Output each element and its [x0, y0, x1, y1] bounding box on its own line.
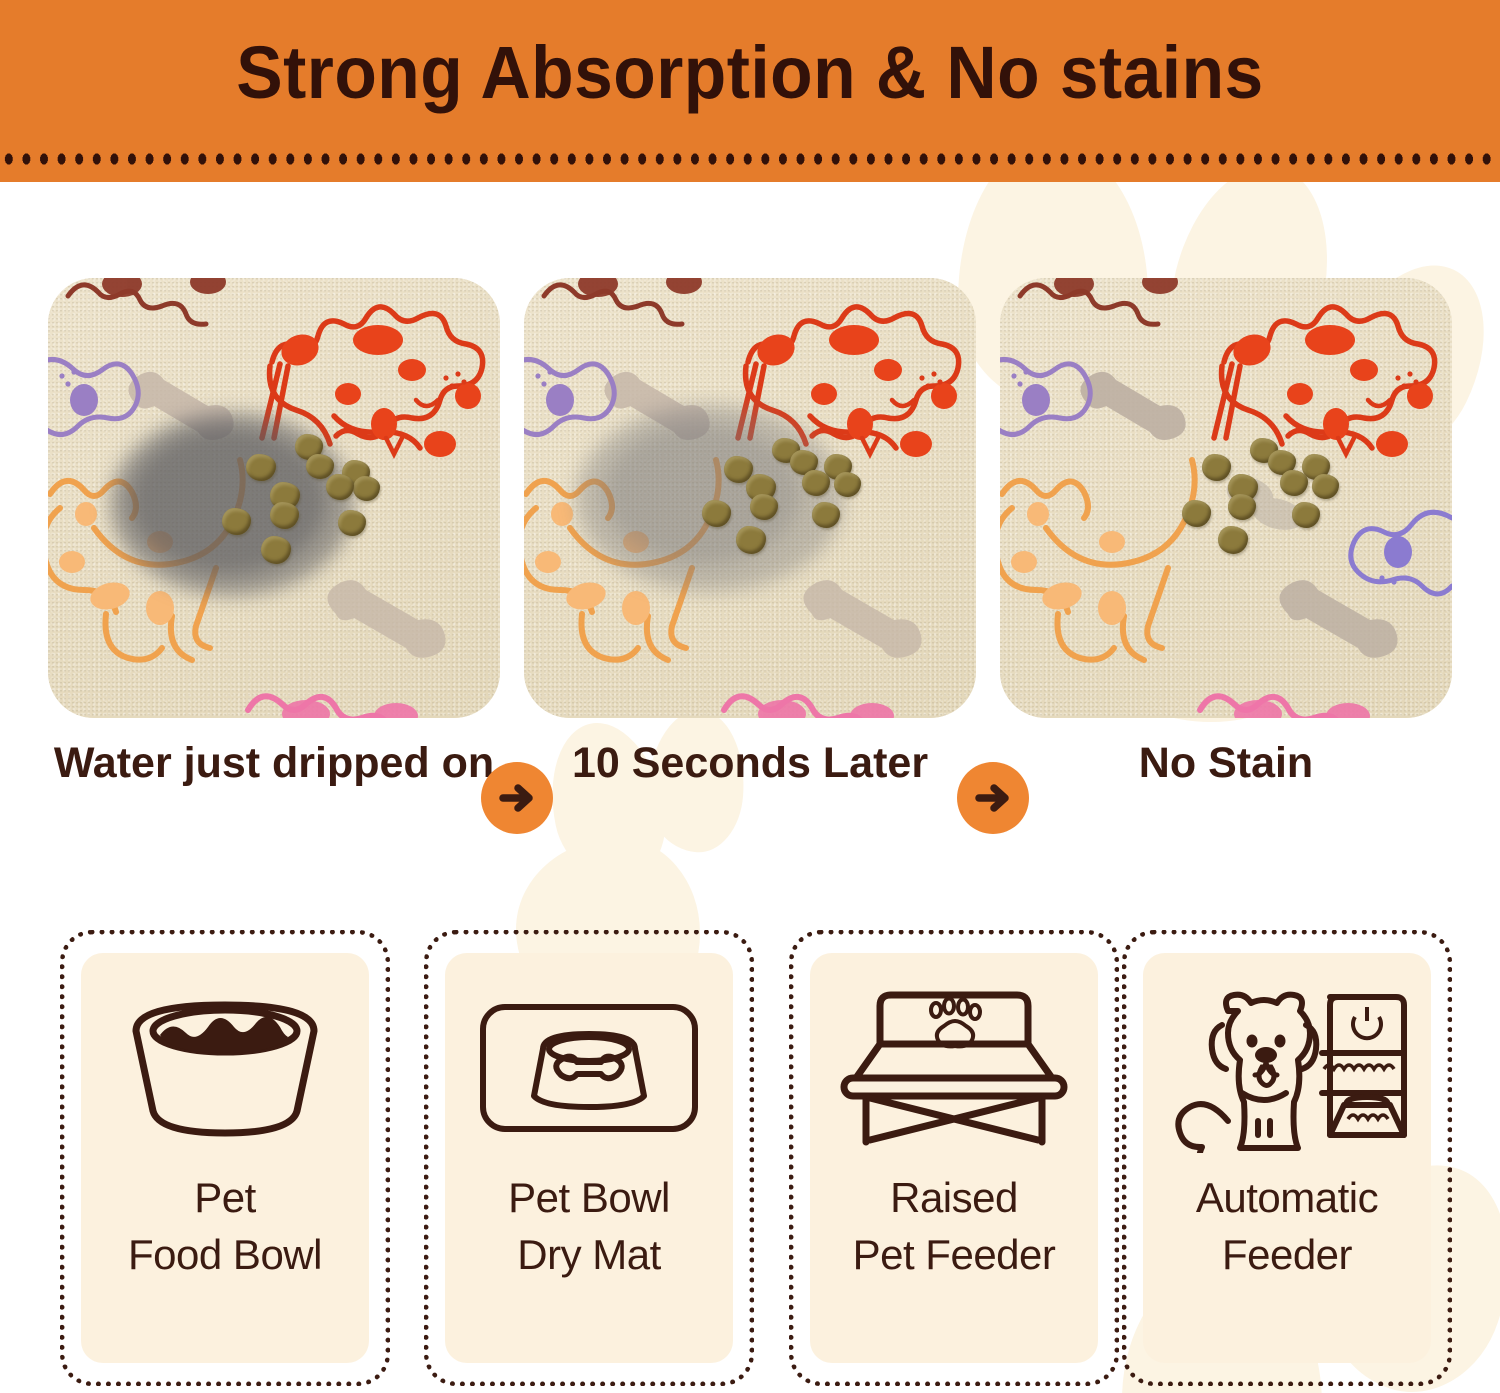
arrow-right-icon [957, 762, 1029, 834]
paw-print-icon [931, 999, 980, 1047]
absorption-demo-strip [0, 278, 1500, 718]
demo-captions: Water just dripped on 10 Seconds Later N… [0, 736, 1500, 856]
use-case-card-raised-pet-feeder[interactable]: RaisedPet Feeder [789, 930, 1119, 1386]
use-case-label: RaisedPet Feeder [853, 1169, 1056, 1283]
raised-pet-feeder-icon [810, 953, 1098, 1169]
pet-food-bowl-icon [81, 953, 369, 1169]
demo-photo-ten-seconds [524, 278, 976, 718]
dotted-divider [0, 152, 1500, 166]
kibble-fill [160, 1017, 288, 1053]
demo-photo-water-dripped [48, 278, 500, 718]
automatic-feeder-icon [1143, 953, 1431, 1169]
dog-icon [1178, 995, 1316, 1153]
arrow-right-icon [481, 762, 553, 834]
use-case-card-automatic-feeder[interactable]: AutomaticFeeder [1122, 930, 1452, 1386]
use-case-card-pet-bowl-dry-mat[interactable]: Pet BowlDry Mat [424, 930, 754, 1386]
caption-ten-seconds: 10 Seconds Later [524, 736, 976, 791]
pet-bowl-dry-mat-icon [445, 953, 733, 1169]
power-button-icon [1353, 1007, 1381, 1038]
caption-no-stain: No Stain [1000, 736, 1452, 791]
use-case-cards: PetFood Bowl Pet BowlDry Mat [0, 930, 1500, 1388]
use-case-label: Pet BowlDry Mat [508, 1169, 670, 1283]
demo-photo-no-stain [1000, 278, 1452, 718]
use-case-label: AutomaticFeeder [1196, 1169, 1378, 1283]
caption-water-dripped: Water just dripped on [48, 736, 500, 791]
use-case-card-pet-food-bowl[interactable]: PetFood Bowl [60, 930, 390, 1386]
mat-doodle-art [1000, 278, 1452, 718]
header-banner: Strong Absorption & No stains [0, 0, 1500, 182]
use-case-label: PetFood Bowl [128, 1169, 322, 1283]
dog-face [1247, 1035, 1286, 1064]
page-title: Strong Absorption & No stains [45, 34, 1455, 112]
